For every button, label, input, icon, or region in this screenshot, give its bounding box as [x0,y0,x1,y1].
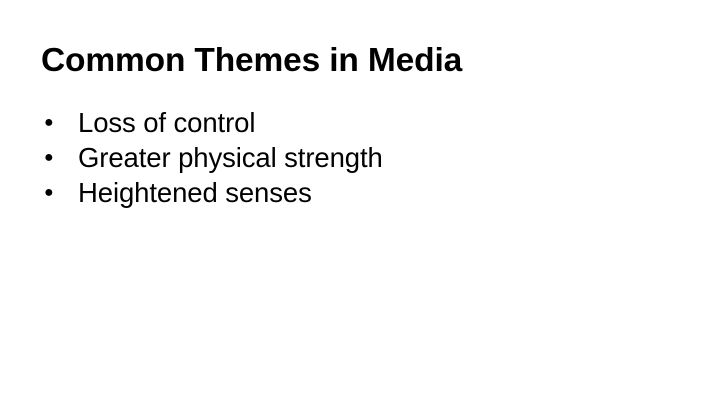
list-item: ● Loss of control [41,105,681,140]
bullet-point-icon: ● [44,105,64,140]
list-item: ● Heightened senses [41,175,681,210]
bullet-point-icon: ● [44,140,64,175]
slide-canvas: Common Themes in Media ● Loss of control… [0,0,720,405]
bullet-list: ● Loss of control ● Greater physical str… [41,105,681,210]
bullet-point-icon: ● [44,175,64,210]
page-title: Common Themes in Media [41,41,681,81]
list-item-label: Loss of control [78,107,255,138]
list-item-label: Greater physical strength [78,142,383,173]
list-item: ● Greater physical strength [41,140,681,175]
list-item-label: Heightened senses [78,177,312,208]
